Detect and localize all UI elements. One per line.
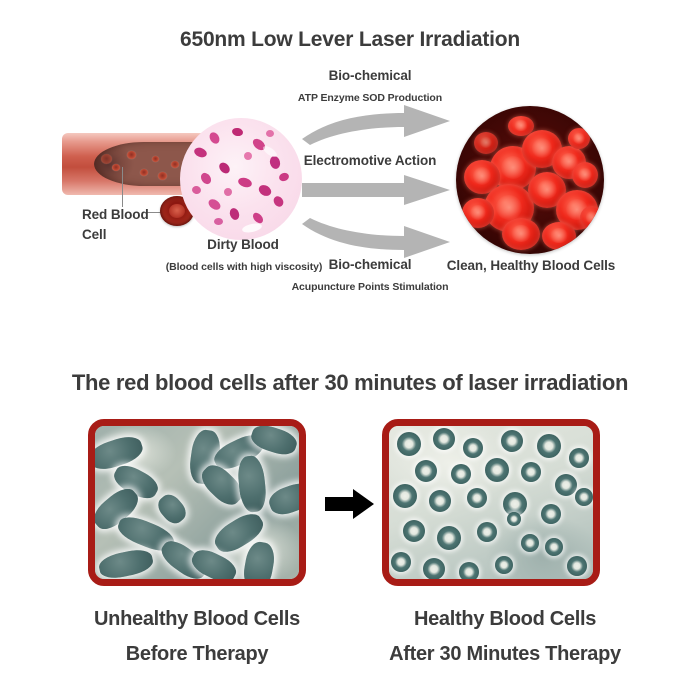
caption-after-line1: Healthy Blood Cells bbox=[352, 608, 658, 631]
microscope-photo-after bbox=[382, 419, 600, 586]
label-red-blood-cell-line2: Cell bbox=[82, 225, 149, 245]
sublabel-atp-enzyme-sod: ATP Enzyme SOD Production bbox=[284, 92, 456, 104]
caption-before-line1: Unhealthy Blood Cells bbox=[44, 608, 350, 631]
arrow-electromotive bbox=[300, 175, 452, 205]
leader-line-vertical bbox=[122, 167, 123, 207]
transition-arrow-icon bbox=[325, 488, 375, 520]
page-title: 650nm Low Lever Laser Irradiation bbox=[0, 28, 700, 52]
dirty-blood-sample bbox=[180, 118, 302, 240]
clean-blood-sample bbox=[456, 106, 604, 254]
caption-before-line2: Before Therapy bbox=[44, 643, 350, 666]
label-bio-chemical-top: Bio-chemical bbox=[284, 68, 456, 83]
infographic-page: 650nm Low Lever Laser Irradiation bbox=[0, 0, 700, 700]
caption-after-line2: After 30 Minutes Therapy bbox=[352, 643, 658, 666]
sublabel-dirty-blood-viscosity: (Blood cells with high viscosity) bbox=[154, 261, 334, 273]
label-red-blood-cell-line1: Red Blood bbox=[82, 205, 149, 225]
section-heading: The red blood cells after 30 minutes of … bbox=[0, 370, 700, 396]
microscope-photo-before bbox=[88, 419, 306, 586]
label-dirty-blood: Dirty Blood bbox=[184, 237, 302, 252]
arrow-bio-chemical-top bbox=[300, 105, 452, 145]
label-electromotive-action: Electromotive Action bbox=[284, 153, 456, 168]
arrow-bio-chemical-bottom bbox=[300, 218, 452, 258]
label-red-blood-cell: Red Blood Cell bbox=[82, 205, 149, 245]
label-clean-healthy-blood-cells: Clean, Healthy Blood Cells bbox=[440, 258, 622, 273]
sublabel-acupuncture-points: Acupuncture Points Stimulation bbox=[284, 281, 456, 293]
